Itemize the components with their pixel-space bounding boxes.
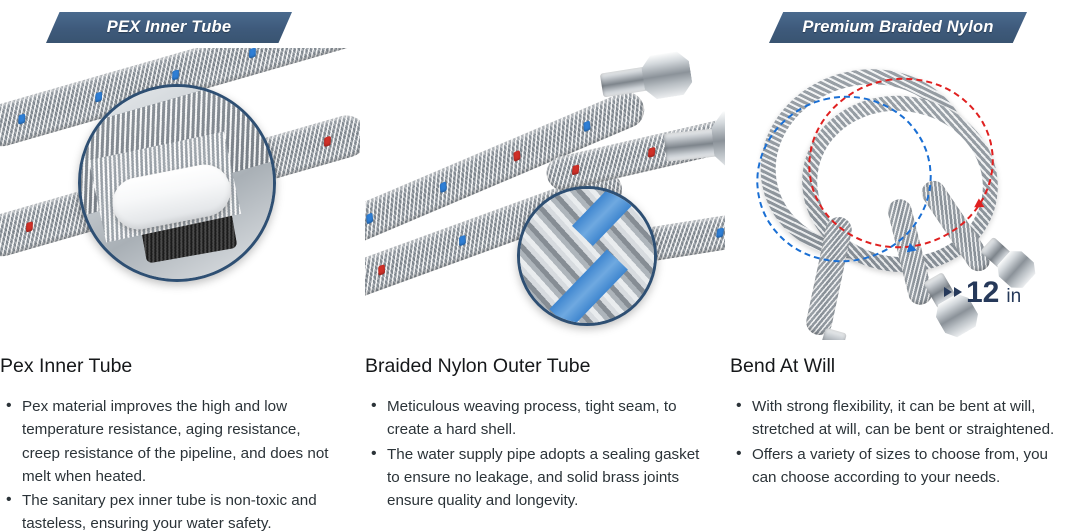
size-value: 12 [966, 276, 999, 310]
page-title-bend: Bend At Will [730, 355, 1067, 378]
red-marker [572, 164, 580, 175]
blue-marker [440, 181, 447, 193]
blue-marker [249, 48, 256, 59]
blue-marker [716, 228, 724, 238]
copy-block-pex: Pex Inner Tube Pex material improves the… [0, 355, 360, 532]
page-title-pex: Pex Inner Tube [0, 355, 342, 378]
page-title-nylon: Braided Nylon Outer Tube [365, 355, 703, 378]
ferrule [664, 128, 721, 161]
red-marker [648, 147, 656, 158]
feature-list-bend: With strong flexibility, it can be bent … [730, 395, 1067, 488]
red-marker [513, 150, 520, 162]
triangle-icon [944, 287, 952, 297]
red-marker [26, 221, 33, 232]
feature-panel-bend-at-will: Bent or Straight [730, 0, 1075, 532]
copy-block-bend: Bend At Will With strong flexibility, it… [730, 355, 1075, 490]
list-item: The sanitary pex inner tube is non-toxic… [0, 489, 342, 532]
blue-marker [583, 120, 590, 132]
copy-block-nylon: Braided Nylon Outer Tube Meticulous weav… [365, 355, 725, 513]
feature-panel-pex-inner-tube: PEX Inner Tube [0, 0, 360, 532]
bend-at-will-photo: 12 in [730, 48, 1075, 340]
blue-marker [18, 113, 25, 124]
feature-panel-braided-nylon: Premium Braided Nylon [365, 0, 725, 532]
pex-inner-tube-photo [0, 48, 360, 340]
magnifier-circle-weave [517, 186, 657, 326]
blue-marker [459, 235, 466, 247]
magnifier-circle-pex [78, 84, 276, 282]
list-item: Meticulous weaving process, tight seam, … [365, 395, 703, 441]
triangle-icon [954, 287, 962, 297]
braided-nylon-photo [365, 48, 725, 340]
blue-marker [366, 212, 373, 224]
ferrule [600, 67, 649, 98]
red-marker [324, 136, 331, 147]
list-item: The water supply pipe adopts a sealing g… [365, 443, 703, 512]
list-item: Pex material improves the high and low t… [0, 395, 342, 487]
blue-marker [172, 69, 179, 80]
size-label: 12 in [944, 276, 1021, 310]
list-item: With strong flexibility, it can be bent … [730, 395, 1067, 441]
red-marker [378, 264, 385, 276]
feature-list-pex: Pex material improves the high and low t… [0, 395, 342, 532]
banner-pex-inner-tube: PEX Inner Tube [46, 12, 292, 43]
list-item: Offers a variety of sizes to choose from… [730, 443, 1067, 489]
feature-list-nylon: Meticulous weaving process, tight seam, … [365, 395, 703, 511]
product-feature-sheet: PEX Inner Tube [0, 0, 1075, 532]
banner-label: PEX Inner Tube [107, 18, 231, 37]
hex-nut [640, 50, 694, 101]
size-unit: in [1006, 286, 1021, 308]
double-right-triangle-icon [944, 287, 962, 297]
